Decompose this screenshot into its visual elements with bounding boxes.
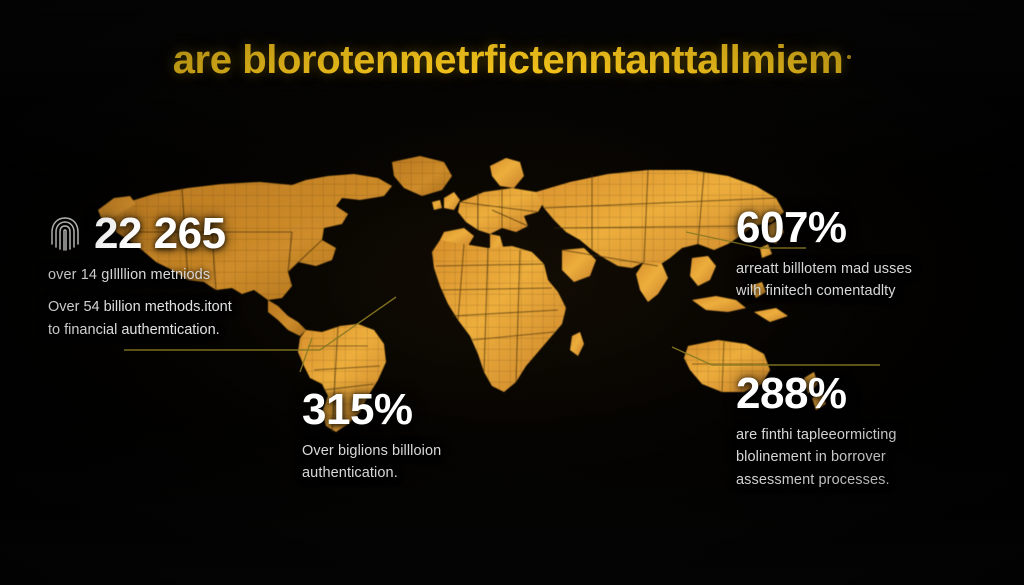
stat-biometric-desc-line-1: over 14 gIllllion metniods xyxy=(48,264,348,286)
stat-auth-header: 315% xyxy=(302,388,542,432)
stat-lending-value: 288% xyxy=(736,372,847,416)
page-title: are blorotenmetrfictenntanttallmiem xyxy=(0,38,1024,82)
stat-fintech: 607% arreatt billlotem mad usses wilh fi… xyxy=(736,206,1006,303)
stat-biometric-subtext: Over 54 billion methods.itont to financi… xyxy=(48,296,348,341)
stat-fintech-desc-line-2: wilh finitech comentadlty xyxy=(736,280,1006,302)
stat-biometric-description: over 14 gIllllion metniods xyxy=(48,264,348,286)
stat-fintech-description: arreatt billlotem mad usses wilh finitec… xyxy=(736,258,1006,303)
page-title-text: are blorotenmetrfictenntanttallmiem xyxy=(173,38,844,82)
stat-auth-description: Over biglions billloion authentication. xyxy=(302,440,542,485)
stat-auth-desc-line-1: Over biglions billloion xyxy=(302,440,542,462)
stat-lending-description: are finthi tapleeormicting blolinement i… xyxy=(736,424,1001,491)
infographic-canvas: are blorotenmetrfictenntanttallmiem 22 2… xyxy=(0,0,1024,585)
stat-biometric-sub-line-2: to financial authemtication. xyxy=(48,319,348,341)
fingerprint-icon xyxy=(48,214,82,254)
stat-fintech-desc-line-1: arreatt billlotem mad usses xyxy=(736,258,1006,280)
stat-lending: 288% are finthi tapleeormicting blolinem… xyxy=(736,372,1001,491)
stat-biometric-header: 22 265 xyxy=(48,212,348,256)
stat-biometric-sub-line-1: Over 54 billion methods.itont xyxy=(48,296,348,318)
region-africa xyxy=(432,240,584,392)
stat-auth-desc-line-2: authentication. xyxy=(302,462,542,484)
stat-fintech-value: 607% xyxy=(736,206,847,250)
stat-biometric: 22 265 over 14 gIllllion metniods Over 5… xyxy=(48,212,348,341)
stat-lending-desc-line-1: are finthi tapleeormicting xyxy=(736,424,1001,446)
stat-lending-desc-line-2: blolinement in borrover xyxy=(736,446,1001,468)
stat-biometric-value: 22 265 xyxy=(94,212,226,256)
stat-fintech-header: 607% xyxy=(736,206,1006,250)
stat-auth: 315% Over biglions billloion authenticat… xyxy=(302,388,542,485)
title-dot-accent xyxy=(847,55,851,59)
stat-auth-value: 315% xyxy=(302,388,413,432)
stat-lending-desc-line-3: assessment processes. xyxy=(736,469,1001,491)
stat-lending-header: 288% xyxy=(736,372,1001,416)
